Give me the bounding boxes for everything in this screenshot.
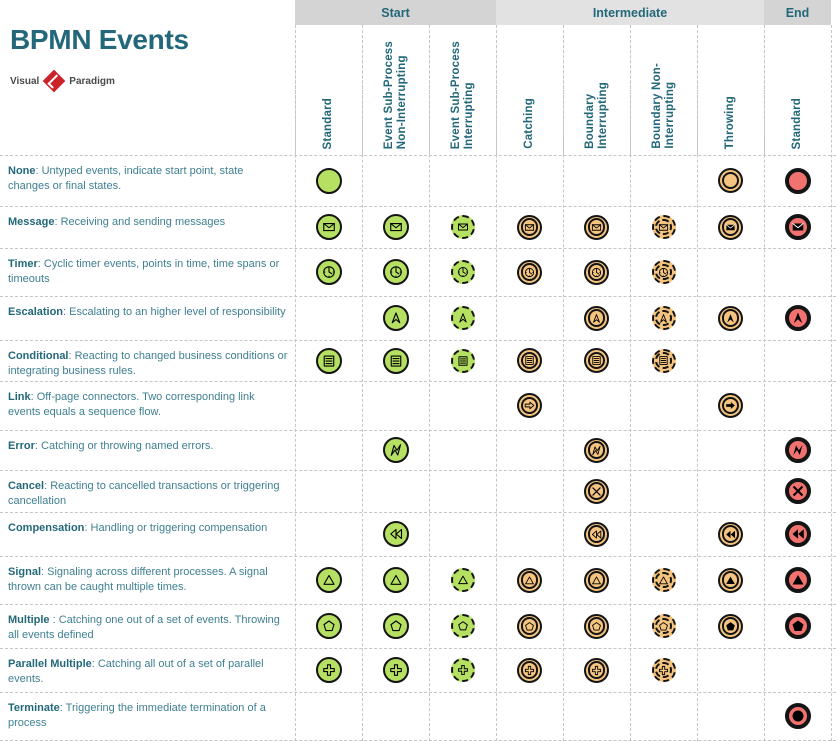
row-label-description: : Cyclic timer events, points in time, t… — [8, 258, 279, 285]
cell-error-boundary-int[interactable] — [563, 430, 630, 470]
row-label-description: : Catching or throwing named errors. — [35, 440, 214, 452]
event-marker-error — [584, 438, 609, 463]
cell-signal-catching[interactable] — [496, 556, 563, 604]
cell-multiple-end-standard[interactable] — [764, 604, 831, 648]
event-marker-terminate — [785, 703, 811, 729]
event-marker-envelope — [316, 214, 342, 240]
event-glyph-signal-icon — [584, 568, 609, 593]
event-marker-clock — [517, 260, 542, 285]
group-header-intermediate: Intermediate — [496, 0, 764, 25]
cell-message-start-sub-nonint[interactable] — [362, 206, 429, 248]
event-marker-envelope — [652, 215, 676, 239]
event-marker-clock — [584, 260, 609, 285]
page-title: BPMN Events — [10, 24, 189, 56]
event-marker-multiple — [517, 614, 542, 639]
event-marker-escalation — [718, 306, 743, 331]
row-label-name: Compensation — [8, 522, 84, 534]
row-label-error: Error: Catching or throwing named errors… — [8, 439, 288, 454]
cell-timer-catching[interactable] — [496, 248, 563, 296]
cell-timer-start-sub-int[interactable] — [429, 248, 496, 296]
event-marker-signal — [451, 568, 475, 592]
group-header-start: Start — [295, 0, 496, 25]
grid-hline — [0, 470, 836, 471]
event-glyph-envelope-icon — [316, 214, 342, 240]
row-label-compensation: Compensation: Handling or triggering com… — [8, 521, 288, 536]
column-header-catching: Catching — [496, 25, 563, 155]
row-label-cancel: Cancel: Reacting to cancelled transactio… — [8, 479, 288, 508]
cell-none-end-standard[interactable] — [764, 155, 831, 206]
event-marker-envelope — [718, 215, 743, 240]
logo-word-paradigm: Paradigm — [69, 76, 115, 87]
event-glyph-clock-icon — [316, 259, 342, 285]
row-label-name: Parallel Multiple — [8, 658, 92, 670]
cell-parallel-multiple-boundary-int[interactable] — [563, 648, 630, 692]
event-marker-envelope — [383, 214, 409, 240]
bpmn-events-sheet: BPMN Events Visual Paradigm StartInterme… — [0, 0, 836, 741]
event-glyph-escalation-icon — [785, 305, 811, 331]
event-glyph-multiple-icon — [785, 613, 811, 639]
event-marker-multiple — [652, 614, 676, 638]
event-glyph-parallel-icon — [316, 657, 342, 683]
event-glyph-cancel-icon — [584, 479, 609, 504]
event-glyph-parallel-icon — [451, 658, 475, 682]
row-label-description: : Reacting to cancelled transactions or … — [8, 480, 279, 507]
event-glyph-envelope-icon — [383, 214, 409, 240]
cell-signal-throwing[interactable] — [697, 556, 764, 604]
cell-conditional-start-standard[interactable] — [295, 340, 362, 381]
event-glyph-clock-icon — [584, 260, 609, 285]
event-marker-conditional — [584, 348, 609, 373]
event-glyph-multiple-icon — [316, 613, 342, 639]
row-label-name: Cancel — [8, 480, 44, 492]
event-marker-link — [718, 393, 743, 418]
event-glyph-escalation-icon — [718, 306, 743, 331]
row-label-name: Message — [8, 216, 54, 228]
event-glyph-parallel-icon — [652, 658, 676, 682]
cell-timer-start-standard[interactable] — [295, 248, 362, 296]
event-glyph-compensation-icon — [785, 521, 811, 547]
cell-terminate-end-standard[interactable] — [764, 692, 831, 740]
cell-multiple-boundary-nonint[interactable] — [630, 604, 697, 648]
event-glyph-envelope-icon — [718, 215, 743, 240]
grid-hline — [0, 692, 836, 693]
cell-message-catching[interactable] — [496, 206, 563, 248]
event-glyph-envelope-icon — [451, 215, 475, 239]
event-marker-parallel — [652, 658, 676, 682]
row-label-link: Link: Off-page connectors. Two correspon… — [8, 390, 288, 419]
cell-none-start-standard[interactable] — [295, 155, 362, 206]
event-marker-clock — [316, 259, 342, 285]
cell-multiple-start-sub-nonint[interactable] — [362, 604, 429, 648]
event-glyph-signal-icon — [383, 567, 409, 593]
event-marker-compensation — [584, 522, 609, 547]
cell-timer-boundary-int[interactable] — [563, 248, 630, 296]
event-marker-envelope — [785, 214, 811, 240]
event-marker-multiple — [584, 614, 609, 639]
event-marker-compensation — [718, 522, 743, 547]
event-glyph-envelope-icon — [652, 215, 676, 239]
event-glyph-clock-icon — [517, 260, 542, 285]
row-label-terminate: Terminate: Triggering the immediate term… — [8, 701, 288, 730]
column-header-label: Event Sub-Process Interrupting — [450, 41, 476, 149]
event-marker-signal — [718, 568, 743, 593]
event-marker-escalation — [451, 306, 475, 330]
event-glyph-multiple-icon — [451, 614, 475, 638]
cell-message-start-standard[interactable] — [295, 206, 362, 248]
cell-message-boundary-nonint[interactable] — [630, 206, 697, 248]
title-block: BPMN Events Visual Paradigm — [0, 0, 295, 155]
cell-multiple-throwing[interactable] — [697, 604, 764, 648]
cell-link-catching[interactable] — [496, 381, 563, 430]
cell-parallel-multiple-start-sub-nonint[interactable] — [362, 648, 429, 692]
event-glyph-signal-icon — [652, 568, 676, 592]
row-label-description: : Signaling across different processes. … — [8, 566, 268, 593]
event-marker-conditional — [383, 348, 409, 374]
cell-escalation-start-sub-nonint[interactable] — [362, 296, 429, 340]
column-header-throwing: Throwing — [697, 25, 764, 155]
event-marker-signal — [584, 568, 609, 593]
event-marker-multiple — [383, 613, 409, 639]
cell-escalation-start-sub-int[interactable] — [429, 296, 496, 340]
column-header-label: Throwing — [724, 96, 737, 149]
column-header-label: Standard — [322, 98, 335, 149]
logo-diamond-icon — [43, 70, 65, 92]
cell-cancel-end-standard[interactable] — [764, 470, 831, 512]
event-marker-parallel — [584, 658, 609, 683]
cell-message-end-standard[interactable] — [764, 206, 831, 248]
event-marker-envelope — [584, 215, 609, 240]
cell-escalation-boundary-int[interactable] — [563, 296, 630, 340]
cell-message-start-sub-int[interactable] — [429, 206, 496, 248]
column-header-start-sub-nonint: Event Sub-Process Non-Interrupting — [362, 25, 429, 155]
event-glyph-error-icon — [383, 437, 409, 463]
event-glyph-compensation-icon — [383, 521, 409, 547]
event-marker-parallel — [383, 657, 409, 683]
cell-parallel-multiple-start-standard[interactable] — [295, 648, 362, 692]
cell-multiple-catching[interactable] — [496, 604, 563, 648]
event-glyph-conditional-icon — [584, 348, 609, 373]
cell-signal-boundary-int[interactable] — [563, 556, 630, 604]
event-marker-conditional — [451, 349, 475, 373]
row-label-description: : Off-page connectors. Two corresponding… — [8, 391, 255, 418]
event-marker-signal — [316, 567, 342, 593]
cell-link-throwing[interactable] — [697, 381, 764, 430]
event-glyph-signal-icon — [785, 567, 811, 593]
grid-vline — [831, 25, 832, 741]
cell-signal-start-standard[interactable] — [295, 556, 362, 604]
event-glyph-terminate-icon — [785, 703, 811, 729]
cell-signal-end-standard[interactable] — [764, 556, 831, 604]
event-glyph-escalation-icon — [652, 306, 676, 330]
event-glyph-compensation-icon — [584, 522, 609, 547]
event-marker-parallel — [517, 658, 542, 683]
row-label-name: Terminate — [8, 702, 60, 714]
event-glyph-conditional-icon — [383, 348, 409, 374]
event-marker-conditional — [316, 348, 342, 374]
event-marker-multiple — [451, 614, 475, 638]
cell-message-throwing[interactable] — [697, 206, 764, 248]
event-marker-compensation — [785, 521, 811, 547]
cell-error-end-standard[interactable] — [764, 430, 831, 470]
event-marker-multiple — [316, 613, 342, 639]
event-marker-clock — [652, 260, 676, 284]
event-glyph-parallel-icon — [517, 658, 542, 683]
event-marker-conditional — [517, 348, 542, 373]
row-label-name: Error — [8, 440, 35, 452]
row-label-none: None: Untyped events, indicate start poi… — [8, 164, 288, 193]
event-glyph-conditional-icon — [316, 348, 342, 374]
event-marker-none — [785, 168, 811, 194]
event-glyph-parallel-icon — [383, 657, 409, 683]
row-label-timer: Timer: Cyclic timer events, points in ti… — [8, 257, 288, 286]
row-label-parallel-multiple: Parallel Multiple: Catching all out of a… — [8, 657, 288, 686]
event-marker-escalation — [785, 305, 811, 331]
event-glyph-conditional-icon — [652, 349, 676, 373]
cell-parallel-multiple-start-sub-int[interactable] — [429, 648, 496, 692]
row-label-name: Escalation — [8, 306, 63, 318]
event-marker-cancel — [584, 479, 609, 504]
event-glyph-conditional-icon — [451, 349, 475, 373]
row-label-name: Link — [8, 391, 31, 403]
column-header-boundary-nonint: Boundary Non- Interrupting — [630, 25, 697, 155]
row-label-signal: Signal: Signaling across different proce… — [8, 565, 288, 594]
cell-none-throwing[interactable] — [697, 155, 764, 206]
event-ring-outer — [785, 168, 811, 194]
event-glyph-link-icon — [718, 393, 743, 418]
event-glyph-cancel-icon — [785, 478, 811, 504]
event-marker-signal — [652, 568, 676, 592]
cell-parallel-multiple-boundary-nonint[interactable] — [630, 648, 697, 692]
row-label-name: Signal — [8, 566, 41, 578]
cell-conditional-start-sub-int[interactable] — [429, 340, 496, 381]
event-glyph-parallel-icon — [584, 658, 609, 683]
event-glyph-envelope-icon — [584, 215, 609, 240]
cell-compensation-end-standard[interactable] — [764, 512, 831, 556]
column-header-label: Boundary Non- Interrupting — [651, 63, 677, 149]
event-glyph-clock-icon — [652, 260, 676, 284]
cell-signal-start-sub-int[interactable] — [429, 556, 496, 604]
event-marker-escalation — [584, 306, 609, 331]
cell-timer-start-sub-nonint[interactable] — [362, 248, 429, 296]
event-glyph-multiple-icon — [383, 613, 409, 639]
event-marker-clock — [383, 259, 409, 285]
event-marker-compensation — [383, 521, 409, 547]
column-header-start-sub-int: Event Sub-Process Interrupting — [429, 25, 496, 155]
event-glyph-signal-icon — [316, 567, 342, 593]
event-glyph-link-icon — [517, 393, 542, 418]
event-glyph-escalation-icon — [451, 306, 475, 330]
event-glyph-error-icon — [584, 438, 609, 463]
event-glyph-clock-icon — [383, 259, 409, 285]
event-marker-parallel — [451, 658, 475, 682]
row-label-name: Timer — [8, 258, 38, 270]
row-label-message: Message: Receiving and sending messages — [8, 215, 288, 230]
event-glyph-conditional-icon — [517, 348, 542, 373]
event-glyph-escalation-icon — [584, 306, 609, 331]
cell-conditional-start-sub-nonint[interactable] — [362, 340, 429, 381]
event-marker-error — [785, 437, 811, 463]
row-label-description: : Handling or triggering compensation — [84, 522, 267, 534]
event-marker-conditional — [652, 349, 676, 373]
cell-conditional-boundary-nonint[interactable] — [630, 340, 697, 381]
group-header-end: End — [764, 0, 831, 25]
cell-message-boundary-int[interactable] — [563, 206, 630, 248]
column-header-boundary-int: Boundary Interrupting — [563, 25, 630, 155]
event-ring-outer — [316, 168, 342, 194]
event-glyph-envelope-icon — [785, 214, 811, 240]
cell-timer-boundary-nonint[interactable] — [630, 248, 697, 296]
row-label-escalation: Escalation: Escalating to an higher leve… — [8, 305, 288, 320]
event-marker-none — [718, 168, 743, 193]
event-marker-escalation — [383, 305, 409, 331]
event-marker-multiple — [718, 614, 743, 639]
row-label-description: : Receiving and sending messages — [54, 216, 225, 228]
cell-signal-start-sub-nonint[interactable] — [362, 556, 429, 604]
column-header-label: Event Sub-Process Non-Interrupting — [383, 41, 409, 149]
event-marker-error — [383, 437, 409, 463]
column-header-label: Catching — [523, 98, 536, 149]
event-glyph-multiple-icon — [584, 614, 609, 639]
row-label-name: Multiple — [8, 614, 53, 626]
event-glyph-signal-icon — [718, 568, 743, 593]
event-glyph-multiple-icon — [718, 614, 743, 639]
event-glyph-signal-icon — [517, 568, 542, 593]
cell-compensation-start-sub-nonint[interactable] — [362, 512, 429, 556]
cell-conditional-catching[interactable] — [496, 340, 563, 381]
cell-escalation-throwing[interactable] — [697, 296, 764, 340]
event-marker-signal — [785, 567, 811, 593]
event-glyph-signal-icon — [451, 568, 475, 592]
event-marker-parallel — [316, 657, 342, 683]
row-label-conditional: Conditional: Reacting to changed busines… — [8, 349, 288, 378]
event-marker-cancel — [785, 478, 811, 504]
event-glyph-multiple-icon — [517, 614, 542, 639]
event-glyph-escalation-icon — [383, 305, 409, 331]
event-marker-envelope — [451, 215, 475, 239]
event-marker-signal — [383, 567, 409, 593]
event-marker-escalation — [652, 306, 676, 330]
row-label-name: Conditional — [8, 350, 69, 362]
cell-parallel-multiple-catching[interactable] — [496, 648, 563, 692]
row-label-name: None — [8, 165, 36, 177]
cell-multiple-start-standard[interactable] — [295, 604, 362, 648]
event-marker-none — [316, 168, 342, 194]
event-marker-link — [517, 393, 542, 418]
cell-escalation-boundary-nonint[interactable] — [630, 296, 697, 340]
cell-conditional-boundary-int[interactable] — [563, 340, 630, 381]
row-label-multiple: Multiple : Catching one out of a set of … — [8, 613, 288, 642]
cell-error-start-sub-nonint[interactable] — [362, 430, 429, 470]
column-header-start-standard: Standard — [295, 25, 362, 155]
event-glyph-error-icon — [785, 437, 811, 463]
cell-compensation-boundary-int[interactable] — [563, 512, 630, 556]
event-marker-clock — [451, 260, 475, 284]
cell-signal-boundary-nonint[interactable] — [630, 556, 697, 604]
column-header-label: Standard — [791, 98, 804, 149]
row-label-description: : Escalating to an higher level of respo… — [63, 306, 286, 318]
event-marker-multiple — [785, 613, 811, 639]
row-label-description: : Untyped events, indicate start point, … — [8, 165, 243, 192]
column-header-end-standard: Standard — [764, 25, 831, 155]
event-marker-envelope — [517, 215, 542, 240]
cell-multiple-start-sub-int[interactable] — [429, 604, 496, 648]
cell-multiple-boundary-int[interactable] — [563, 604, 630, 648]
column-header-label: Boundary Interrupting — [584, 82, 610, 149]
logo-word-visual: Visual — [10, 76, 39, 87]
visual-paradigm-logo: Visual Paradigm — [10, 70, 115, 92]
event-glyph-compensation-icon — [718, 522, 743, 547]
event-marker-signal — [517, 568, 542, 593]
event-glyph-clock-icon — [451, 260, 475, 284]
cell-escalation-end-standard[interactable] — [764, 296, 831, 340]
cell-compensation-throwing[interactable] — [697, 512, 764, 556]
event-glyph-multiple-icon — [652, 614, 676, 638]
event-glyph-envelope-icon — [517, 215, 542, 240]
cell-cancel-boundary-int[interactable] — [563, 470, 630, 512]
